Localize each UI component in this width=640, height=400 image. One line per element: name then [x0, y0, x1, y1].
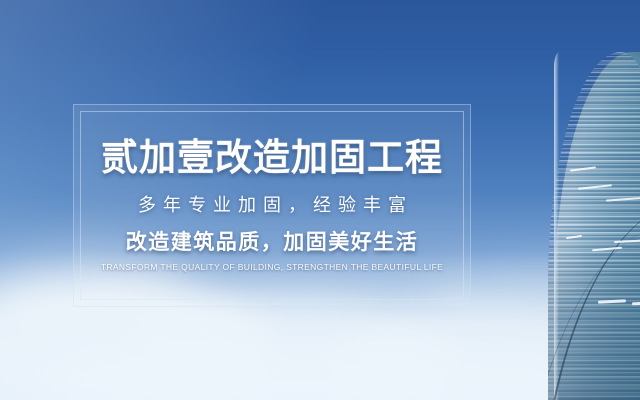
banner-text-block: 贰加壹改造加固工程 多年专业加固，经验丰富 改造建筑品质，加固美好生活 TRAN…: [74, 105, 470, 306]
window-reflection: [632, 302, 640, 306]
text-panel-frame: 贰加壹改造加固工程 多年专业加固，经验丰富 改造建筑品质，加固美好生活 TRAN…: [73, 104, 471, 307]
banner-english-caption: TRANSFORM THE QUALITY OF BUILDING, STREN…: [101, 263, 443, 272]
banner-tagline: 改造建筑品质，加固美好生活: [126, 232, 419, 253]
banner-subline: 多年专业加固，经验丰富: [131, 196, 413, 214]
banner-headline: 贰加壹改造加固工程: [101, 139, 443, 176]
skyscraper-illustration: [548, 52, 640, 400]
hero-banner: 贰加壹改造加固工程 多年专业加固，经验丰富 改造建筑品质，加固美好生活 TRAN…: [0, 0, 640, 400]
